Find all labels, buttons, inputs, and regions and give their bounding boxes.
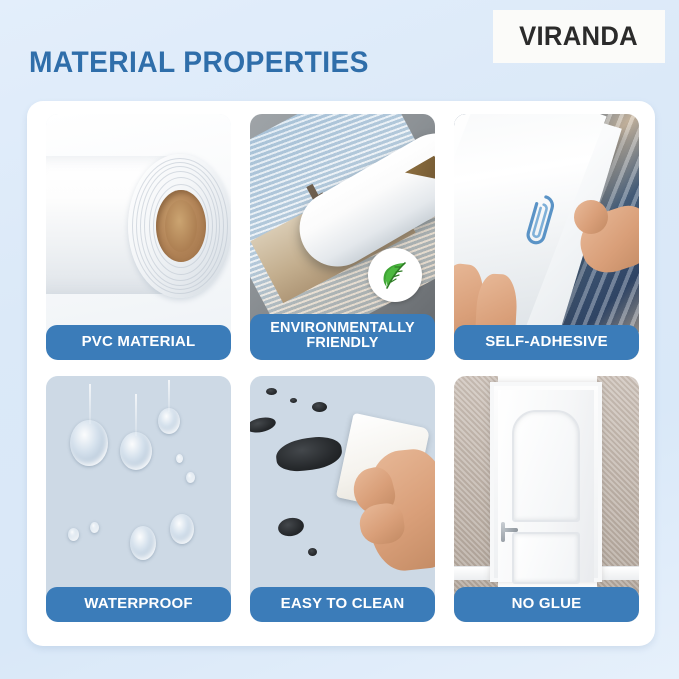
card-label-self-adhesive: SELF-ADHESIVE (454, 325, 639, 360)
card-label-easy-to-clean: EASY TO CLEAN (250, 587, 435, 622)
card-label-no-glue: NO GLUE (454, 587, 639, 622)
no-glue-photo (454, 376, 639, 622)
feature-card-environmentally-friendly[interactable]: ENVIRONMENTALLY FRIENDLY (250, 114, 435, 360)
card-label-environmentally-friendly: ENVIRONMENTALLY FRIENDLY (250, 314, 435, 360)
pvc-roll-photo (46, 114, 231, 360)
waterproof-photo (46, 376, 231, 622)
feature-card-self-adhesive[interactable]: SELF-ADHESIVE (454, 114, 639, 360)
feature-grid: PVC MATERIAL ENVIRONMENTALLY FRIENDLY (46, 114, 638, 634)
card-label-line-1: ENVIRONMENTALLY (270, 320, 415, 336)
card-label-waterproof: WATERPROOF (46, 587, 231, 622)
leaf-badge (368, 248, 422, 302)
leaf-icon (378, 258, 412, 292)
feature-card-no-glue[interactable]: NO GLUE (454, 376, 639, 622)
feature-card-easy-to-clean[interactable]: EASY TO CLEAN (250, 376, 435, 622)
brand-logo-text: VIRANDA (520, 21, 639, 52)
easy-to-clean-photo (250, 376, 435, 622)
feature-card-waterproof[interactable]: WATERPROOF (46, 376, 231, 622)
feature-card-pvc-material[interactable]: PVC MATERIAL (46, 114, 231, 360)
brand-logo: VIRANDA (493, 10, 665, 63)
card-label-pvc-material: PVC MATERIAL (46, 325, 231, 360)
header: MATERIAL PROPERTIES VIRANDA (0, 0, 679, 100)
self-adhesive-photo (454, 114, 639, 360)
card-label-line-2: FRIENDLY (306, 335, 378, 351)
page-title: MATERIAL PROPERTIES (29, 46, 369, 80)
